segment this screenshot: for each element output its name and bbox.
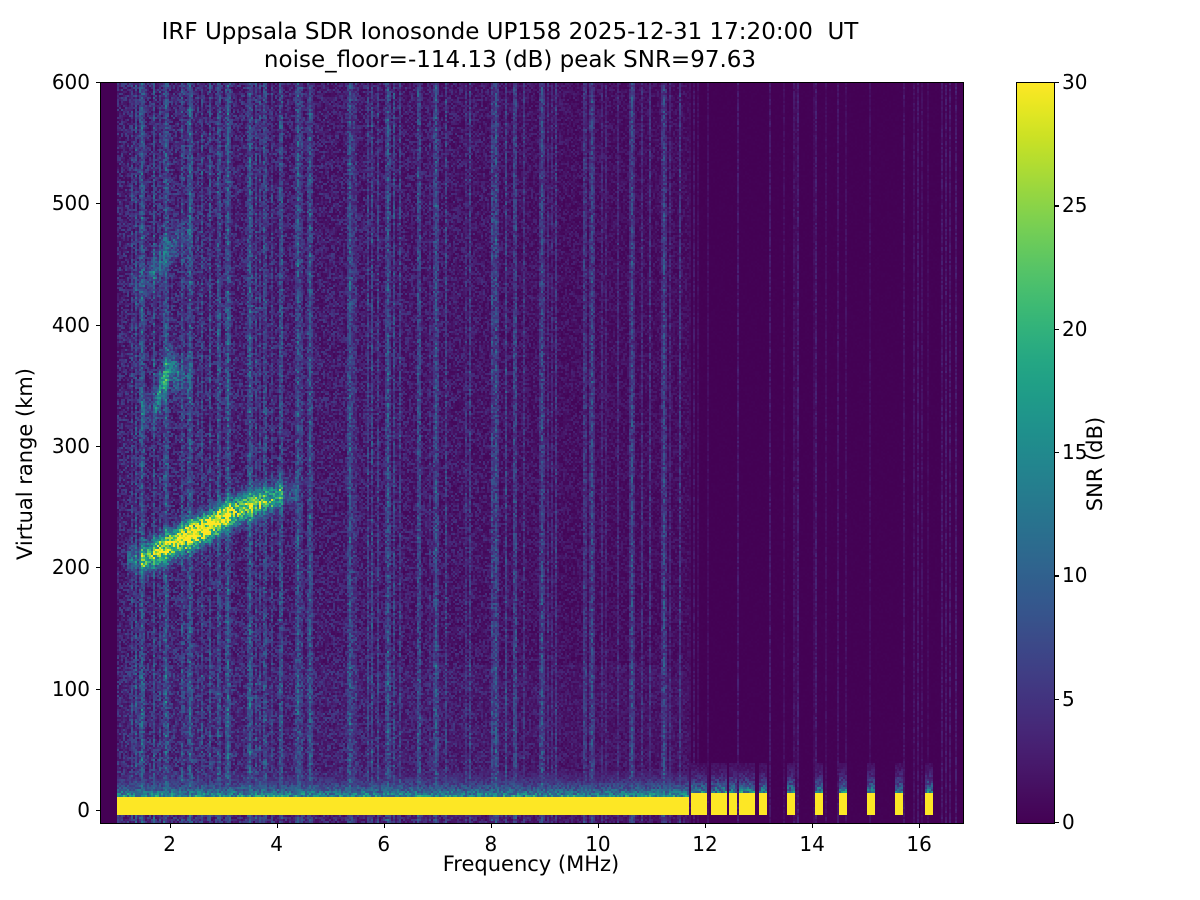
x-axis-label: Frequency (MHz) <box>100 852 962 876</box>
y-tick-label: 600 <box>4 70 90 94</box>
y-tick-mark <box>96 82 101 83</box>
colorbar-gradient <box>1017 83 1054 823</box>
x-tick-mark <box>598 823 599 828</box>
x-tick-mark <box>170 823 171 828</box>
x-tick-mark <box>491 823 492 828</box>
colorbar-tick-label: 25 <box>1062 193 1087 217</box>
y-tick-label: 0 <box>4 798 90 822</box>
colorbar-tick-mark <box>1054 575 1059 576</box>
colorbar-tick-mark <box>1054 822 1059 823</box>
x-tick-mark <box>919 823 920 828</box>
y-tick-mark <box>96 567 101 568</box>
colorbar-label: SNR (dB) <box>1083 264 1107 664</box>
ionogram-figure: IRF Uppsala SDR Ionosonde UP158 2025-12-… <box>0 0 1200 900</box>
colorbar-tick-mark <box>1054 452 1059 453</box>
title-line-1: IRF Uppsala SDR Ionosonde UP158 2025-12-… <box>0 18 1020 46</box>
figure-title: IRF Uppsala SDR Ionosonde UP158 2025-12-… <box>0 18 1020 74</box>
y-tick-mark <box>96 203 101 204</box>
y-tick-mark <box>96 810 101 811</box>
colorbar-tick-label: 0 <box>1062 810 1075 834</box>
colorbar-tick-mark <box>1054 82 1059 83</box>
title-line-2: noise_floor=-114.13 (dB) peak SNR=97.63 <box>0 46 1020 74</box>
colorbar-tick-label: 5 <box>1062 687 1075 711</box>
colorbar-tick-mark <box>1054 699 1059 700</box>
colorbar-tick-mark <box>1054 205 1059 206</box>
y-tick-label: 500 <box>4 191 90 215</box>
x-tick-mark <box>384 823 385 828</box>
colorbar-tick-mark <box>1054 329 1059 330</box>
y-tick-mark <box>96 325 101 326</box>
y-axis-label: Virtual range (km) <box>13 264 37 664</box>
ionogram-plot-area[interactable] <box>100 82 964 824</box>
y-tick-mark <box>96 446 101 447</box>
x-tick-mark <box>277 823 278 828</box>
colorbar-tick-label: 30 <box>1062 70 1087 94</box>
colorbar[interactable] <box>1016 82 1055 824</box>
y-tick-mark <box>96 689 101 690</box>
x-tick-mark <box>812 823 813 828</box>
y-tick-label: 100 <box>4 677 90 701</box>
ionogram-heatmap <box>101 83 963 823</box>
x-tick-mark <box>705 823 706 828</box>
